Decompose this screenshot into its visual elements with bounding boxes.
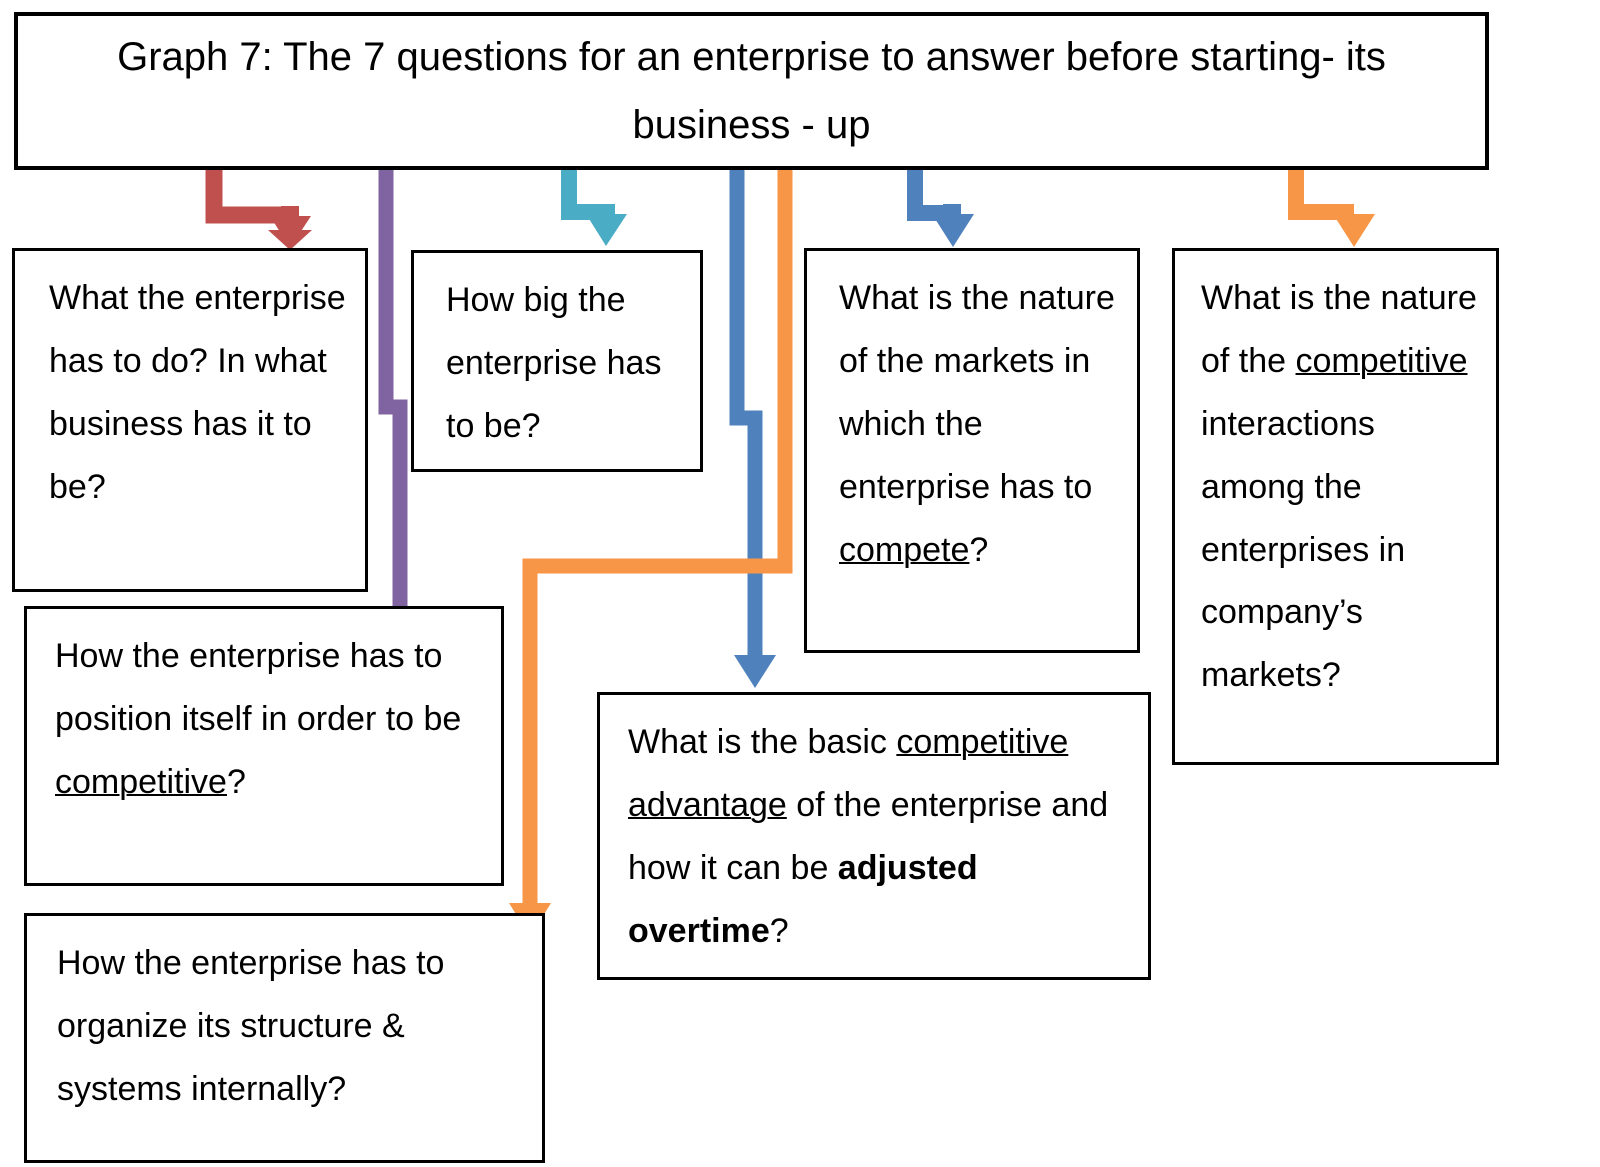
text-suffix: ? (227, 763, 246, 801)
question-box-competitive-interactions: What is the nature of the competitive in… (1172, 248, 1499, 765)
question-text-organize: How the enterprise has to organize its s… (27, 916, 542, 1121)
arrow-to-competitive-interactions (1296, 170, 1375, 247)
text-prefix: What is the basic (628, 723, 896, 761)
text-suffix: interactions among the enterprises in co… (1201, 405, 1405, 695)
question-text-how-big: How big the enterprise has to be? (414, 253, 700, 458)
arrow-to-markets (915, 170, 974, 247)
text-suffix: ? (770, 912, 789, 950)
text-underlined-compete: compete (839, 531, 969, 569)
text-underlined-competitive: competitive (55, 763, 227, 801)
text-prefix: What is the nature of the markets in whi… (839, 279, 1115, 506)
question-box-what-to-do: What the enterprise has to do? In what b… (12, 248, 368, 592)
question-box-organize: How the enterprise has to organize its s… (24, 913, 545, 1163)
question-box-competitive-advantage: What is the basic competitive advantage … (597, 692, 1151, 980)
question-text-what-to-do: What the enterprise has to do? In what b… (15, 251, 365, 519)
page-title: Graph 7: The 7 questions for an enterpri… (18, 23, 1485, 159)
question-box-how-big: How big the enterprise has to be? (411, 250, 703, 472)
question-text-competitive-interactions: What is the nature of the competitive in… (1175, 251, 1496, 707)
question-box-markets: What is the nature of the markets in whi… (804, 248, 1140, 653)
diagram-title-box: Graph 7: The 7 questions for an enterpri… (14, 12, 1489, 170)
arrow-to-competitive-advantage (734, 170, 776, 688)
arrow-to-what-to-do (214, 170, 312, 250)
text-suffix: ? (969, 531, 988, 569)
arrow-to-how-big (569, 170, 627, 246)
text-underlined-competitive: competitive (1296, 342, 1468, 380)
text-prefix: How the enterprise has to position itsel… (55, 637, 461, 738)
diagram-canvas: Graph 7: The 7 questions for an enterpri… (0, 0, 1600, 1167)
question-text-position: How the enterprise has to position itsel… (27, 609, 501, 814)
question-box-position: How the enterprise has to position itsel… (24, 606, 504, 886)
question-text-competitive-advantage: What is the basic competitive advantage … (600, 695, 1148, 963)
question-text-markets: What is the nature of the markets in whi… (807, 251, 1137, 581)
